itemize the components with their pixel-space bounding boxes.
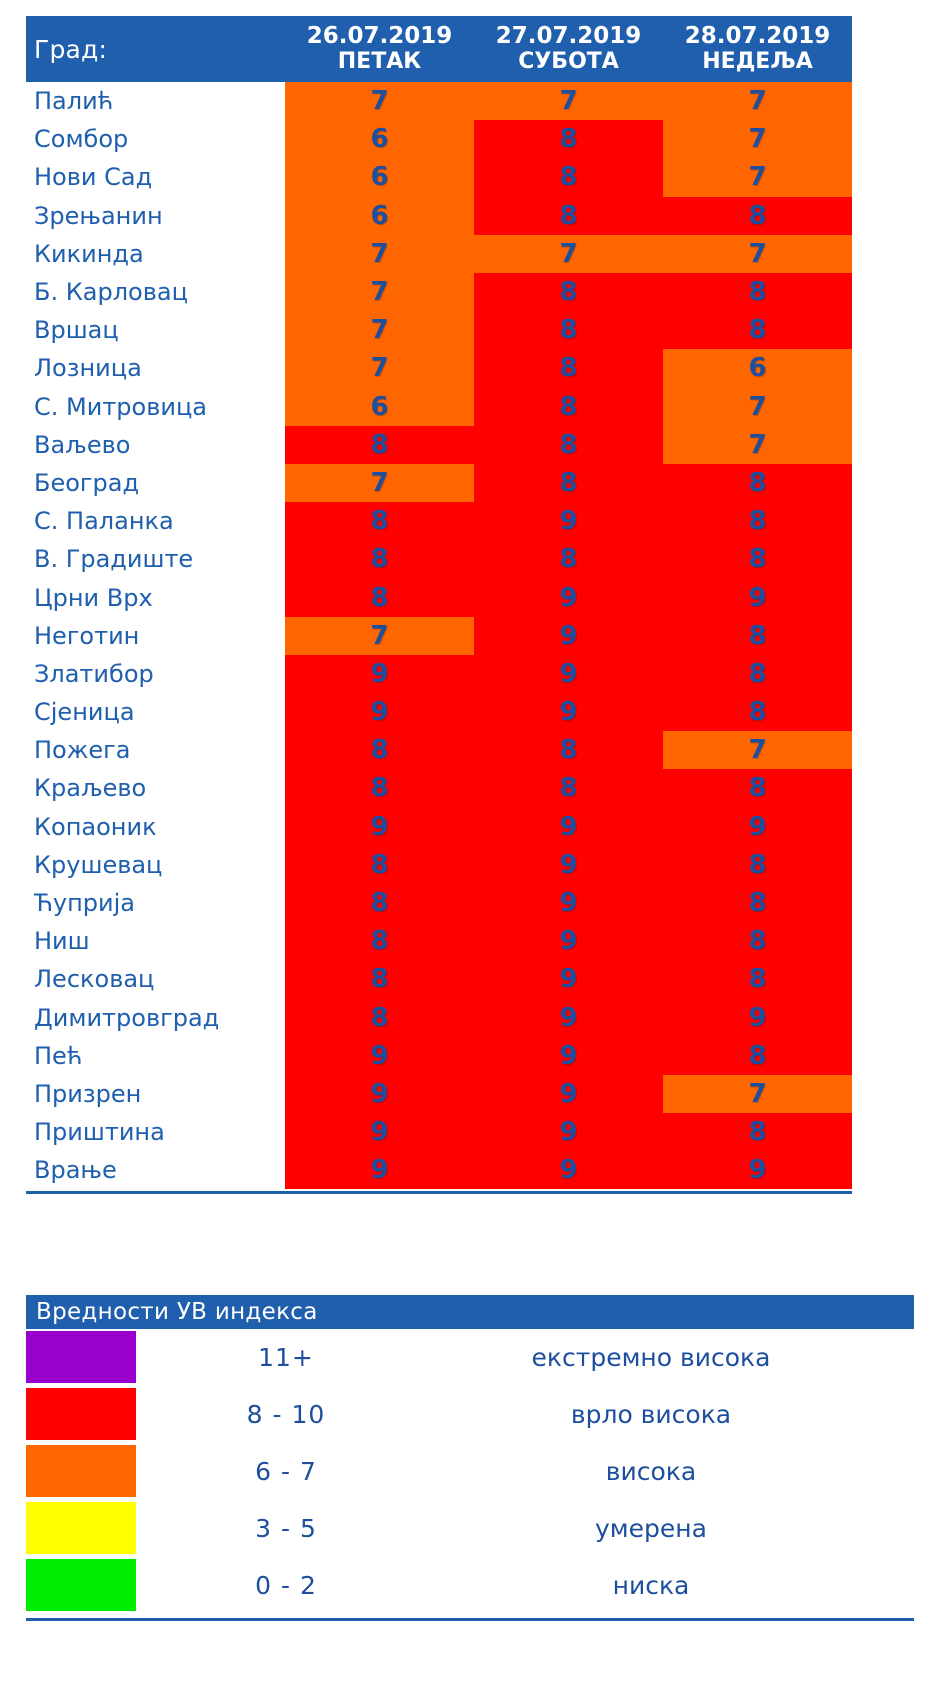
- city-name-cell: Призрен: [26, 1075, 285, 1113]
- legend-item: 11+екстремно висока: [26, 1329, 914, 1386]
- table-row: Београд788: [26, 464, 852, 502]
- uv-value-cell: 6: [663, 349, 852, 387]
- uv-value-cell: 9: [285, 1151, 474, 1189]
- uv-value-cell: 9: [663, 578, 852, 616]
- uv-value-cell: 8: [663, 1113, 852, 1151]
- uv-value-cell: 6: [285, 158, 474, 196]
- uv-value-cell: 9: [474, 655, 663, 693]
- uv-value-cell: 7: [663, 82, 852, 120]
- table-row: Краљево888: [26, 769, 852, 807]
- column-header-day-3-dow: НЕДЕЉА: [702, 50, 812, 75]
- table-row: Златибор998: [26, 655, 852, 693]
- uv-value-cell: 8: [474, 388, 663, 426]
- legend-rows: 11+екстремно висока8 - 10врло висока6 - …: [26, 1329, 914, 1614]
- uv-value-cell: 8: [474, 273, 663, 311]
- city-name-cell: С. Митровица: [26, 388, 285, 426]
- table-row: Врање999: [26, 1151, 852, 1189]
- legend-color-swatch: [26, 1559, 136, 1613]
- column-header-day-1: 26.07.2019 ПЕТАК: [285, 16, 474, 82]
- uv-value-cell: 6: [285, 388, 474, 426]
- table-row: Сомбор687: [26, 120, 852, 158]
- legend-bottom-rule: [26, 1618, 914, 1621]
- uv-value-cell: 8: [285, 769, 474, 807]
- uv-value-cell: 8: [474, 426, 663, 464]
- uv-value-cell: 8: [663, 884, 852, 922]
- uv-value-cell: 8: [285, 999, 474, 1037]
- table-row: С. Митровица687: [26, 388, 852, 426]
- legend-description-label: висока: [436, 1457, 866, 1486]
- uv-value-cell: 9: [474, 1075, 663, 1113]
- table-row: Призрен997: [26, 1075, 852, 1113]
- uv-value-cell: 9: [663, 999, 852, 1037]
- uv-value-cell: 9: [474, 884, 663, 922]
- city-name-cell: Краљево: [26, 769, 285, 807]
- uv-value-cell: 9: [474, 960, 663, 998]
- city-name-cell: Лесковац: [26, 960, 285, 998]
- uv-value-cell: 8: [474, 311, 663, 349]
- uv-value-cell: 8: [663, 464, 852, 502]
- uv-value-cell: 8: [663, 502, 852, 540]
- table-row: Ниш898: [26, 922, 852, 960]
- legend-range-label: 8 - 10: [136, 1400, 436, 1429]
- city-name-cell: Вршац: [26, 311, 285, 349]
- city-name-cell: Приштина: [26, 1113, 285, 1151]
- uv-value-cell: 8: [474, 197, 663, 235]
- uv-value-cell: 8: [663, 693, 852, 731]
- uv-value-cell: 8: [474, 540, 663, 578]
- uv-value-cell: 8: [663, 655, 852, 693]
- uv-value-cell: 9: [285, 1113, 474, 1151]
- uv-value-cell: 7: [285, 617, 474, 655]
- column-header-day-3-date: 28.07.2019: [685, 24, 831, 50]
- legend-color-swatch: [26, 1445, 136, 1499]
- legend-range-label: 11+: [136, 1343, 436, 1372]
- legend-range-label: 0 - 2: [136, 1571, 436, 1600]
- uv-value-cell: 9: [474, 693, 663, 731]
- column-header-city-label: Град:: [34, 35, 107, 64]
- uv-value-cell: 7: [285, 349, 474, 387]
- table-row: В. Градиште888: [26, 540, 852, 578]
- uv-value-cell: 8: [663, 273, 852, 311]
- table-row: Кикинда777: [26, 235, 852, 273]
- city-name-cell: Копаоник: [26, 808, 285, 846]
- legend-item: 8 - 10врло висока: [26, 1386, 914, 1443]
- uv-value-cell: 8: [663, 197, 852, 235]
- table-header-row: Град: 26.07.2019 ПЕТАК 27.07.2019 СУБОТА…: [26, 16, 852, 82]
- legend-color-swatch: [26, 1388, 136, 1442]
- uv-value-cell: 9: [285, 1075, 474, 1113]
- column-header-day-2-date: 27.07.2019: [496, 24, 642, 50]
- table-row: Палић777: [26, 82, 852, 120]
- uv-value-cell: 6: [285, 120, 474, 158]
- uv-value-cell: 8: [285, 922, 474, 960]
- city-name-cell: Палић: [26, 82, 285, 120]
- uv-value-cell: 7: [663, 731, 852, 769]
- uv-value-cell: 7: [663, 235, 852, 273]
- column-header-day-2-dow: СУБОТА: [518, 50, 619, 75]
- uv-value-cell: 8: [474, 731, 663, 769]
- city-name-cell: Нови Сад: [26, 158, 285, 196]
- uv-value-cell: 9: [285, 808, 474, 846]
- city-name-cell: Димитровград: [26, 999, 285, 1037]
- city-name-cell: Врање: [26, 1151, 285, 1189]
- uv-value-cell: 9: [474, 578, 663, 616]
- uv-value-cell: 8: [663, 311, 852, 349]
- city-name-cell: Зрењанин: [26, 197, 285, 235]
- uv-value-cell: 8: [663, 617, 852, 655]
- column-header-day-1-dow: ПЕТАК: [338, 50, 421, 75]
- uv-value-cell: 9: [474, 1113, 663, 1151]
- table-row: Приштина998: [26, 1113, 852, 1151]
- city-name-cell: Сјеница: [26, 693, 285, 731]
- uv-value-cell: 7: [285, 464, 474, 502]
- uv-value-cell: 9: [474, 846, 663, 884]
- legend-item: 3 - 5умерена: [26, 1500, 914, 1557]
- legend-range-label: 3 - 5: [136, 1514, 436, 1543]
- uv-value-cell: 8: [285, 426, 474, 464]
- uv-value-cell: 8: [285, 540, 474, 578]
- legend-title-bar: Вредности УВ индекса: [26, 1295, 914, 1329]
- uv-value-cell: 8: [285, 502, 474, 540]
- legend-description-label: екстремно висока: [436, 1343, 866, 1372]
- city-name-cell: Пећ: [26, 1037, 285, 1075]
- uv-value-cell: 8: [474, 158, 663, 196]
- table-row: Пожега887: [26, 731, 852, 769]
- uv-value-cell: 9: [474, 502, 663, 540]
- city-name-cell: Црни Врх: [26, 578, 285, 616]
- uv-value-cell: 8: [285, 731, 474, 769]
- table-row: Копаоник999: [26, 808, 852, 846]
- uv-forecast-table: Град: 26.07.2019 ПЕТАК 27.07.2019 СУБОТА…: [26, 16, 852, 1194]
- table-row: Зрењанин688: [26, 197, 852, 235]
- uv-value-cell: 8: [285, 884, 474, 922]
- legend-color-swatch: [26, 1502, 136, 1556]
- uv-value-cell: 7: [663, 388, 852, 426]
- uv-value-cell: 9: [663, 808, 852, 846]
- table-row: Нови Сад687: [26, 158, 852, 196]
- table-row: Ваљево887: [26, 426, 852, 464]
- uv-value-cell: 8: [663, 769, 852, 807]
- table-body: Палић777Сомбор687Нови Сад687Зрењанин688К…: [26, 82, 852, 1189]
- uv-value-cell: 8: [663, 1037, 852, 1075]
- uv-value-cell: 8: [474, 120, 663, 158]
- table-row: Вршац788: [26, 311, 852, 349]
- uv-value-cell: 7: [663, 120, 852, 158]
- column-header-day-1-date: 26.07.2019: [307, 24, 453, 50]
- city-name-cell: Неготин: [26, 617, 285, 655]
- uv-value-cell: 9: [474, 1151, 663, 1189]
- uv-value-cell: 8: [285, 960, 474, 998]
- uv-value-cell: 9: [285, 1037, 474, 1075]
- column-header-day-3: 28.07.2019 НЕДЕЉА: [663, 16, 852, 82]
- uv-value-cell: 9: [474, 999, 663, 1037]
- uv-value-cell: 9: [474, 617, 663, 655]
- legend-description-label: ниска: [436, 1571, 866, 1600]
- uv-value-cell: 9: [474, 922, 663, 960]
- uv-value-cell: 8: [663, 922, 852, 960]
- uv-value-cell: 8: [285, 578, 474, 616]
- table-row: Неготин798: [26, 617, 852, 655]
- table-row: Сјеница998: [26, 693, 852, 731]
- city-name-cell: В. Градиште: [26, 540, 285, 578]
- uv-value-cell: 7: [285, 82, 474, 120]
- city-name-cell: Б. Карловац: [26, 273, 285, 311]
- uv-value-cell: 9: [474, 1037, 663, 1075]
- uv-value-cell: 9: [663, 1151, 852, 1189]
- legend-title: Вредности УВ индекса: [36, 1299, 318, 1325]
- table-row: Лозница786: [26, 349, 852, 387]
- table-row: Лесковац898: [26, 960, 852, 998]
- column-header-city: Град:: [26, 16, 285, 82]
- table-row: Пећ998: [26, 1037, 852, 1075]
- legend-item: 6 - 7висока: [26, 1443, 914, 1500]
- uv-value-cell: 9: [474, 808, 663, 846]
- city-name-cell: Лозница: [26, 349, 285, 387]
- city-name-cell: Ћуприја: [26, 884, 285, 922]
- table-row: Б. Карловац788: [26, 273, 852, 311]
- uv-index-legend: Вредности УВ индекса 11+екстремно висока…: [26, 1295, 914, 1621]
- uv-value-cell: 7: [285, 235, 474, 273]
- table-row: Ћуприја898: [26, 884, 852, 922]
- uv-value-cell: 8: [663, 540, 852, 578]
- city-name-cell: Београд: [26, 464, 285, 502]
- uv-value-cell: 7: [474, 235, 663, 273]
- legend-item: 0 - 2ниска: [26, 1557, 914, 1614]
- uv-value-cell: 6: [285, 197, 474, 235]
- uv-value-cell: 7: [663, 426, 852, 464]
- uv-value-cell: 8: [285, 846, 474, 884]
- city-name-cell: Златибор: [26, 655, 285, 693]
- city-name-cell: Кикинда: [26, 235, 285, 273]
- table-row: С. Паланка898: [26, 502, 852, 540]
- uv-value-cell: 9: [285, 693, 474, 731]
- uv-value-cell: 8: [474, 464, 663, 502]
- city-name-cell: С. Паланка: [26, 502, 285, 540]
- table-bottom-rule: [26, 1191, 852, 1194]
- legend-description-label: умерена: [436, 1514, 866, 1543]
- uv-value-cell: 7: [474, 82, 663, 120]
- uv-value-cell: 7: [663, 1075, 852, 1113]
- table-row: Крушевац898: [26, 846, 852, 884]
- uv-value-cell: 8: [474, 769, 663, 807]
- city-name-cell: Ниш: [26, 922, 285, 960]
- uv-value-cell: 8: [663, 846, 852, 884]
- legend-color-swatch: [26, 1331, 136, 1385]
- uv-value-cell: 7: [285, 273, 474, 311]
- uv-value-cell: 8: [474, 349, 663, 387]
- uv-index-forecast-page: Град: 26.07.2019 ПЕТАК 27.07.2019 СУБОТА…: [0, 0, 940, 1689]
- city-name-cell: Пожега: [26, 731, 285, 769]
- table-row: Црни Врх899: [26, 578, 852, 616]
- table-row: Димитровград899: [26, 999, 852, 1037]
- city-name-cell: Сомбор: [26, 120, 285, 158]
- uv-value-cell: 9: [285, 655, 474, 693]
- column-header-day-2: 27.07.2019 СУБОТА: [474, 16, 663, 82]
- legend-range-label: 6 - 7: [136, 1457, 436, 1486]
- city-name-cell: Ваљево: [26, 426, 285, 464]
- uv-value-cell: 7: [285, 311, 474, 349]
- uv-value-cell: 7: [663, 158, 852, 196]
- uv-value-cell: 8: [663, 960, 852, 998]
- city-name-cell: Крушевац: [26, 846, 285, 884]
- legend-description-label: врло висока: [436, 1400, 866, 1429]
